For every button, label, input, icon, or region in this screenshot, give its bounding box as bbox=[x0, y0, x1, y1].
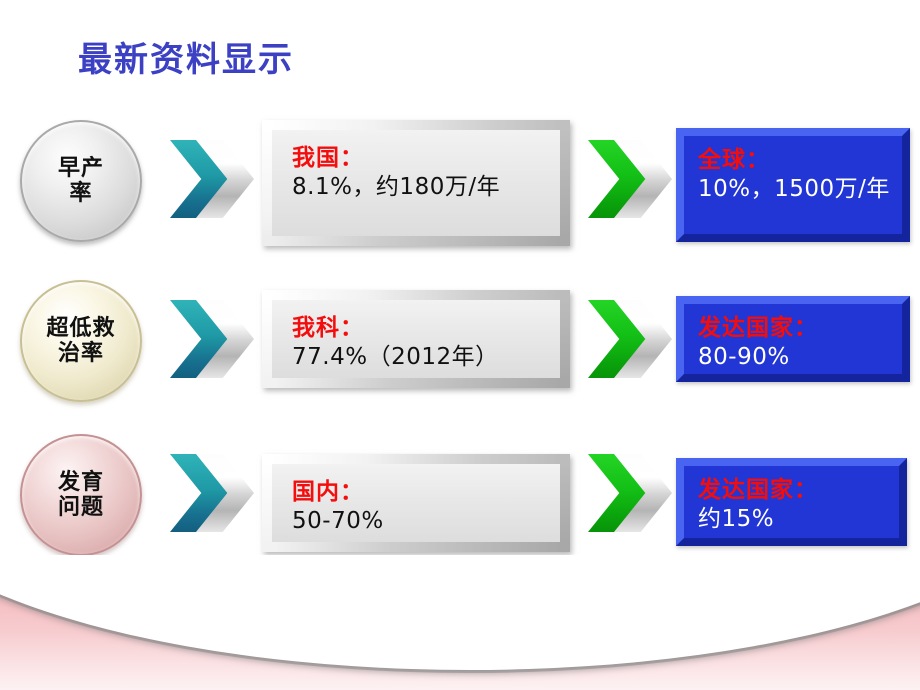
page-title: 最新资料显示 bbox=[78, 32, 294, 81]
category-badge-line-2: 治率 bbox=[58, 341, 104, 366]
domestic-stat-content: 我科： 77.4%（2012年） bbox=[272, 300, 560, 378]
global-stat-box[interactable]: 全球： 10%，1500万/年 bbox=[676, 128, 910, 242]
global-stat-box[interactable]: 发达国家： 约15% bbox=[676, 458, 907, 546]
category-badge-line-2: 问题 bbox=[58, 495, 104, 520]
category-badge-label: 早产 率 bbox=[48, 156, 114, 207]
category-badge-label: 发育 问题 bbox=[48, 470, 114, 521]
domestic-stat-value: 50-70% bbox=[292, 507, 560, 537]
double-chevron-green-icon bbox=[588, 140, 674, 218]
double-chevron-green-icon bbox=[588, 300, 674, 378]
category-badge-line-1: 发育 bbox=[58, 470, 104, 495]
domestic-stat-box[interactable]: 我国： 8.1%，约180万/年 bbox=[262, 120, 570, 246]
double-chevron-teal-icon bbox=[170, 140, 256, 218]
global-stat-content: 发达国家： 80-90% bbox=[684, 304, 902, 374]
category-badge-line-1: 早产 bbox=[58, 156, 104, 181]
global-stat-value: 约15% bbox=[698, 505, 899, 535]
category-badge-preterm-rate[interactable]: 早产 率 bbox=[20, 120, 142, 242]
domestic-stat-label: 我国： bbox=[292, 144, 560, 173]
domestic-stat-value: 77.4%（2012年） bbox=[292, 343, 560, 373]
global-stat-label: 发达国家： bbox=[698, 476, 899, 505]
domestic-stat-content: 我国： 8.1%，约180万/年 bbox=[272, 130, 560, 236]
global-stat-content: 发达国家： 约15% bbox=[684, 466, 899, 538]
global-stat-label: 发达国家： bbox=[698, 314, 902, 343]
category-badge-line-2: 率 bbox=[69, 181, 92, 206]
bottom-decorative-band bbox=[0, 555, 920, 690]
global-stat-value: 80-90% bbox=[698, 343, 902, 373]
global-stat-content: 全球： 10%，1500万/年 bbox=[684, 136, 902, 234]
global-stat-label: 全球： bbox=[698, 146, 902, 175]
global-stat-box[interactable]: 发达国家： 80-90% bbox=[676, 296, 910, 382]
global-stat-value: 10%，1500万/年 bbox=[698, 175, 902, 205]
category-badge-line-1: 超低救 bbox=[46, 316, 115, 341]
domestic-stat-box[interactable]: 我科： 77.4%（2012年） bbox=[262, 290, 570, 388]
category-badge-development-problems[interactable]: 发育 问题 bbox=[20, 434, 142, 556]
category-badge-label: 超低救 治率 bbox=[36, 316, 125, 367]
domestic-stat-label: 我科： bbox=[292, 314, 560, 343]
domestic-stat-box[interactable]: 国内： 50-70% bbox=[262, 454, 570, 552]
double-chevron-green-icon bbox=[588, 454, 674, 532]
double-chevron-teal-icon bbox=[170, 454, 256, 532]
domestic-stat-value: 8.1%，约180万/年 bbox=[292, 173, 560, 203]
white-arc-shape bbox=[0, 555, 920, 670]
category-badge-ultra-low-survival-rate[interactable]: 超低救 治率 bbox=[20, 280, 142, 402]
domestic-stat-label: 国内： bbox=[292, 478, 560, 507]
domestic-stat-content: 国内： 50-70% bbox=[272, 464, 560, 542]
slide-canvas: 最新资料显示 早产 率 我国： 8.1%，约180万/年 全球： bbox=[0, 0, 920, 690]
double-chevron-teal-icon bbox=[170, 300, 256, 378]
